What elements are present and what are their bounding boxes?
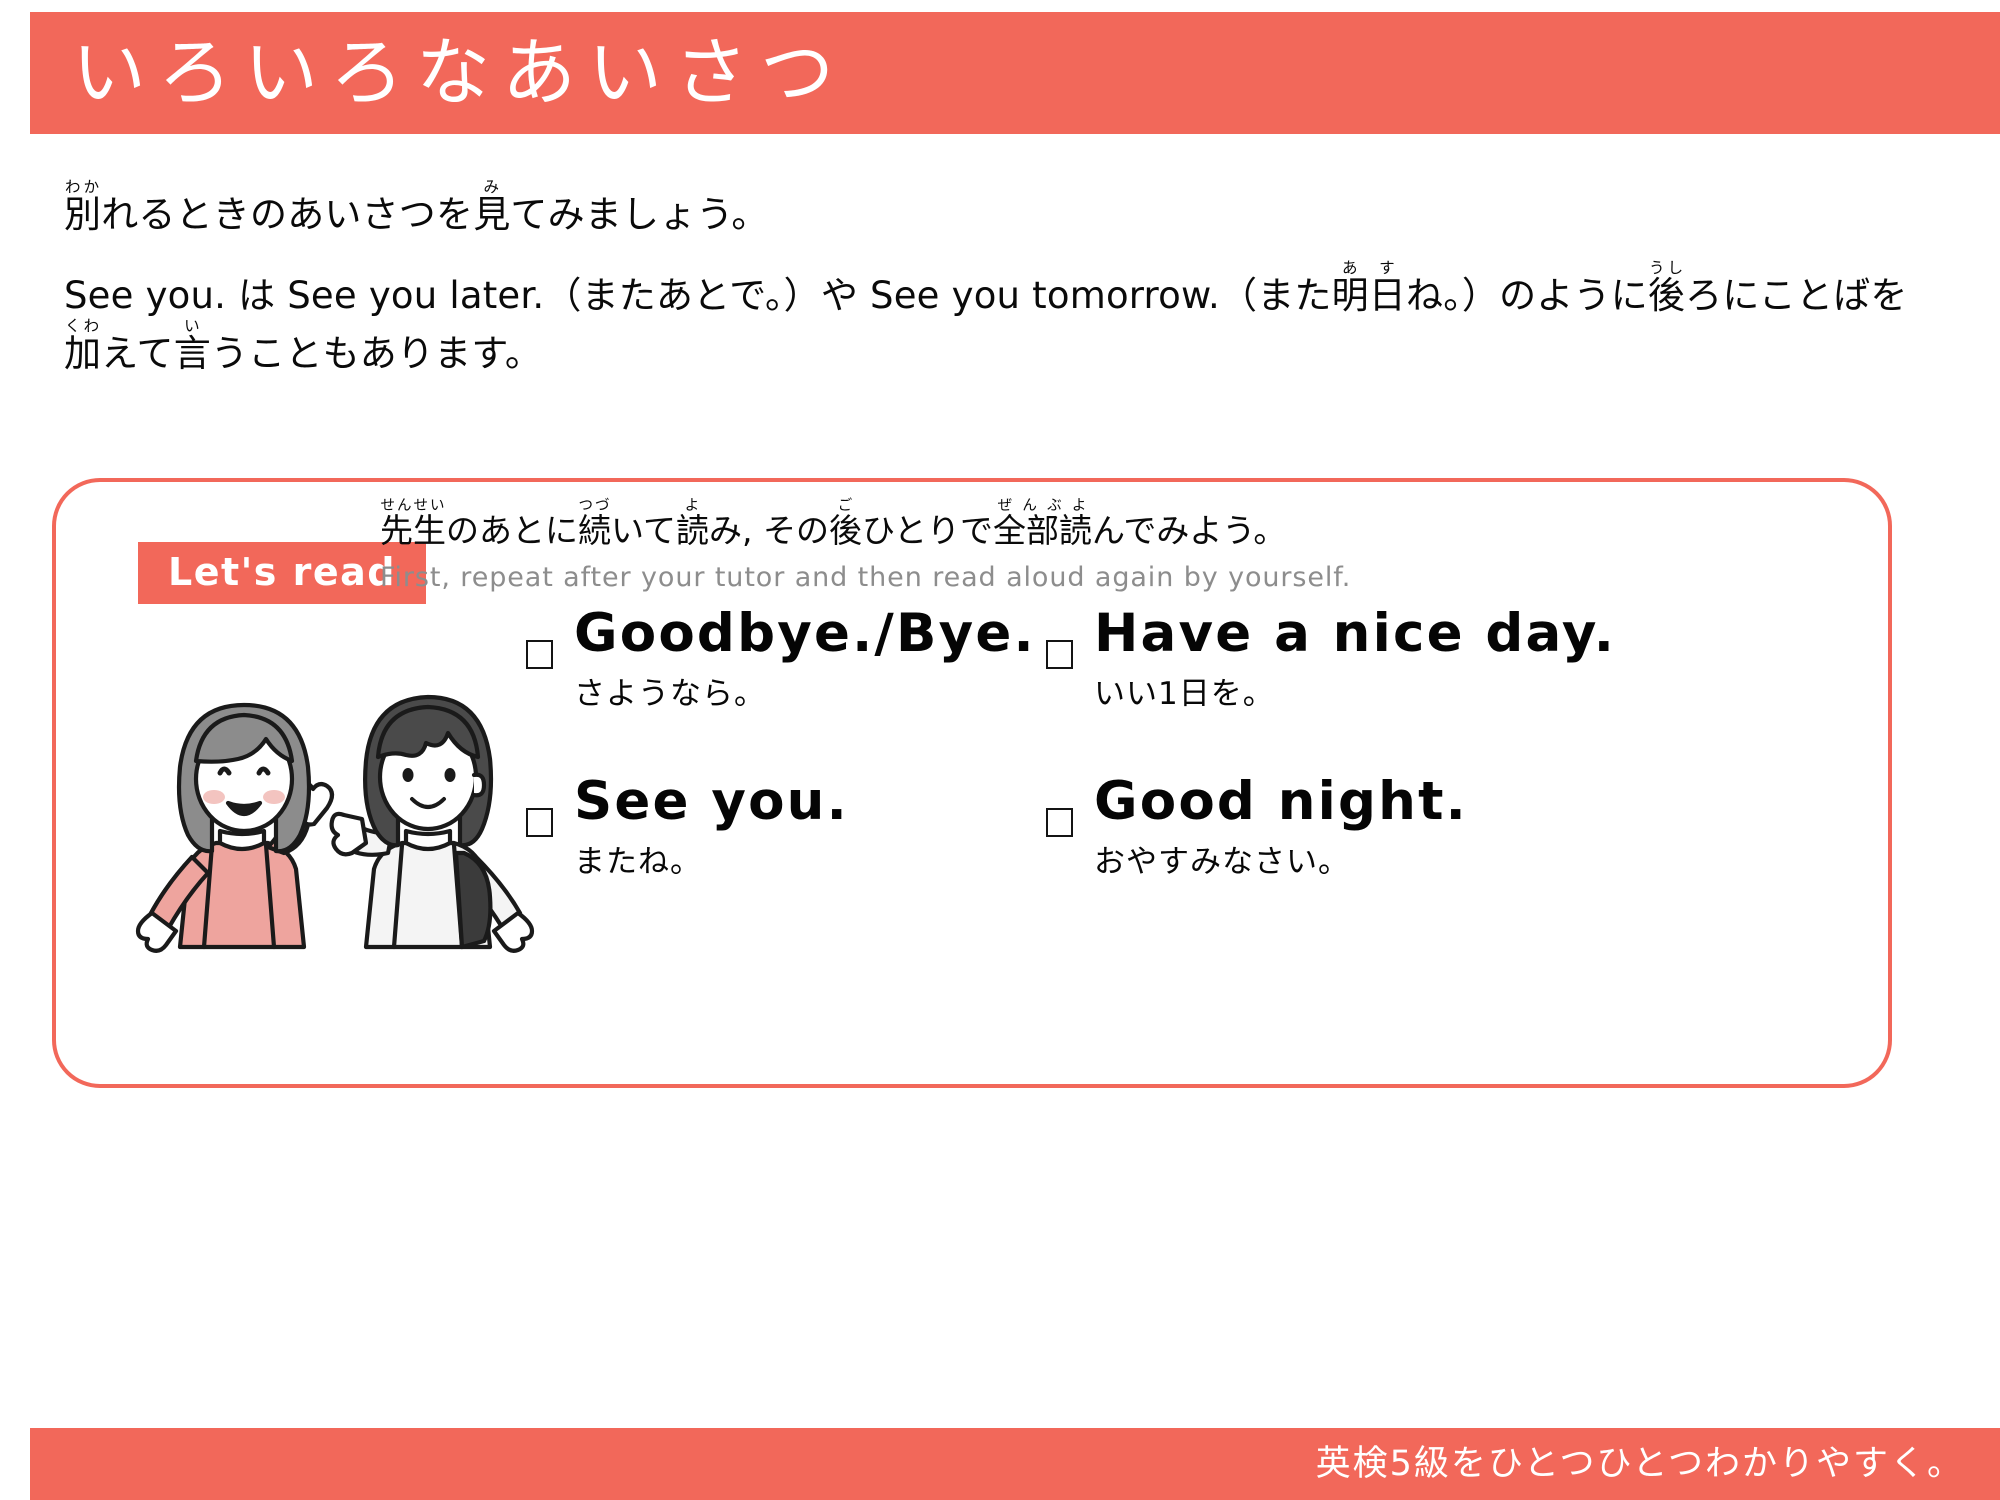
checkbox-have-a-nice-day[interactable] [1046,640,1073,669]
instruction-english: First, repeat after your tutor and then … [380,562,1351,593]
worksheet-page: いろいろなあいさつ 別わかれるときのあいさつを見みてみましょう。 See you… [0,0,2000,1500]
intro-line3-seg3: えて [101,332,174,375]
ruby-go: 後ご [829,511,862,550]
phrase-japanese-see-you: またね。 [574,844,849,881]
phrase-item-good-night[interactable]: Good night. おやすみなさい。 [1046,772,1856,882]
ruby-miru: 見み [473,193,510,236]
phrase-japanese-have-a-nice-day: いい1日を。 [1094,676,1616,713]
intro-line-1: 別わかれるときのあいさつを見みてみましょう。 [64,178,1944,243]
ruby-sensei: 先生せんせい [380,511,446,550]
ruby-zenbuyo: 全部読ぜんぶよ [993,511,1092,550]
intro-line2-seg3: ね。）のように [1406,274,1648,317]
instructions: 先生せんせいのあとに続つづいて読よみ, その後ごひとりで全部読ぜんぶよんでみよう… [380,498,1351,593]
intro-text: 別わかれるときのあいさつを見みてみましょう。 See you. は See yo… [64,178,1944,382]
intro-line1-seg2: れるときのあいさつを [101,193,473,236]
phrase-item-see-you[interactable]: See you. またね。 [526,772,1016,882]
ruby-yomu: 読よ [676,511,709,550]
phrase-english-see-you: See you. [574,772,849,831]
ruby-asu: 明日あす [1332,274,1406,317]
phrase-japanese-good-night: おやすみなさい。 [1094,844,1468,881]
ruby-ushiro: 後うし [1648,274,1685,317]
phrase-english-good-night: Good night. [1094,772,1468,831]
footer-banner: 英検5級をひとつひとつわかりやすく。 [30,1428,2000,1500]
intro-line-2: See you. は See you later.（またあとで。）や See y… [64,259,1944,382]
phrase-item-goodbye[interactable]: Goodbye./Bye. さようなら。 [526,604,1016,714]
intro-line1-seg4: てみましょう。 [510,193,768,236]
ruby-kuwaeru: 加くわ [64,332,101,375]
ruby-wakareru: 別わか [64,193,101,236]
phrase-text-goodbye: Goodbye./Bye. さようなら。 [574,604,1036,714]
phrase-text-see-you: See you. またね。 [574,772,849,882]
intro-line2-seg1: See you. は See you later.（またあとで。）や See y… [64,274,1332,317]
phrase-english-goodbye: Goodbye./Bye. [574,604,1036,663]
footer-series-title: 英検5級をひとつひとつわかりやすく。 [1316,1447,2000,1482]
phrase-grid: Goodbye./Bye. さようなら。 Have a nice day. いい… [526,604,1856,881]
students-illustration [116,657,536,957]
page-title: いろいろなあいさつ [30,36,846,110]
checkbox-good-night[interactable] [1046,808,1073,837]
header-banner: いろいろなあいさつ [30,12,2000,134]
checkbox-goodbye[interactable] [526,640,553,669]
ruby-iu: 言い [174,332,211,375]
phrase-japanese-goodbye: さようなら。 [574,676,1036,713]
phrase-text-have-a-nice-day: Have a nice day. いい1日を。 [1094,604,1616,714]
intro-line3-seg5: うこともあります。 [211,332,542,375]
intro-line3-seg1: とばを [1796,274,1908,317]
two-students-waving-icon [116,657,536,957]
checkbox-see-you[interactable] [526,808,553,837]
phrase-english-have-a-nice-day: Have a nice day. [1094,604,1616,663]
intro-line2-seg5: ろにこ [1685,274,1796,317]
ruby-tsuzuku: 続つづ [578,511,611,550]
instruction-japanese: 先生せんせいのあとに続つづいて読よみ, その後ごひとりで全部読ぜんぶよんでみよう… [380,498,1351,556]
practice-box: Let's read 先生せんせいのあとに続つづいて読よみ, その後ごひとりで全… [52,478,1892,1088]
phrase-item-have-a-nice-day[interactable]: Have a nice day. いい1日を。 [1046,604,1856,714]
phrase-text-good-night: Good night. おやすみなさい。 [1094,772,1468,882]
